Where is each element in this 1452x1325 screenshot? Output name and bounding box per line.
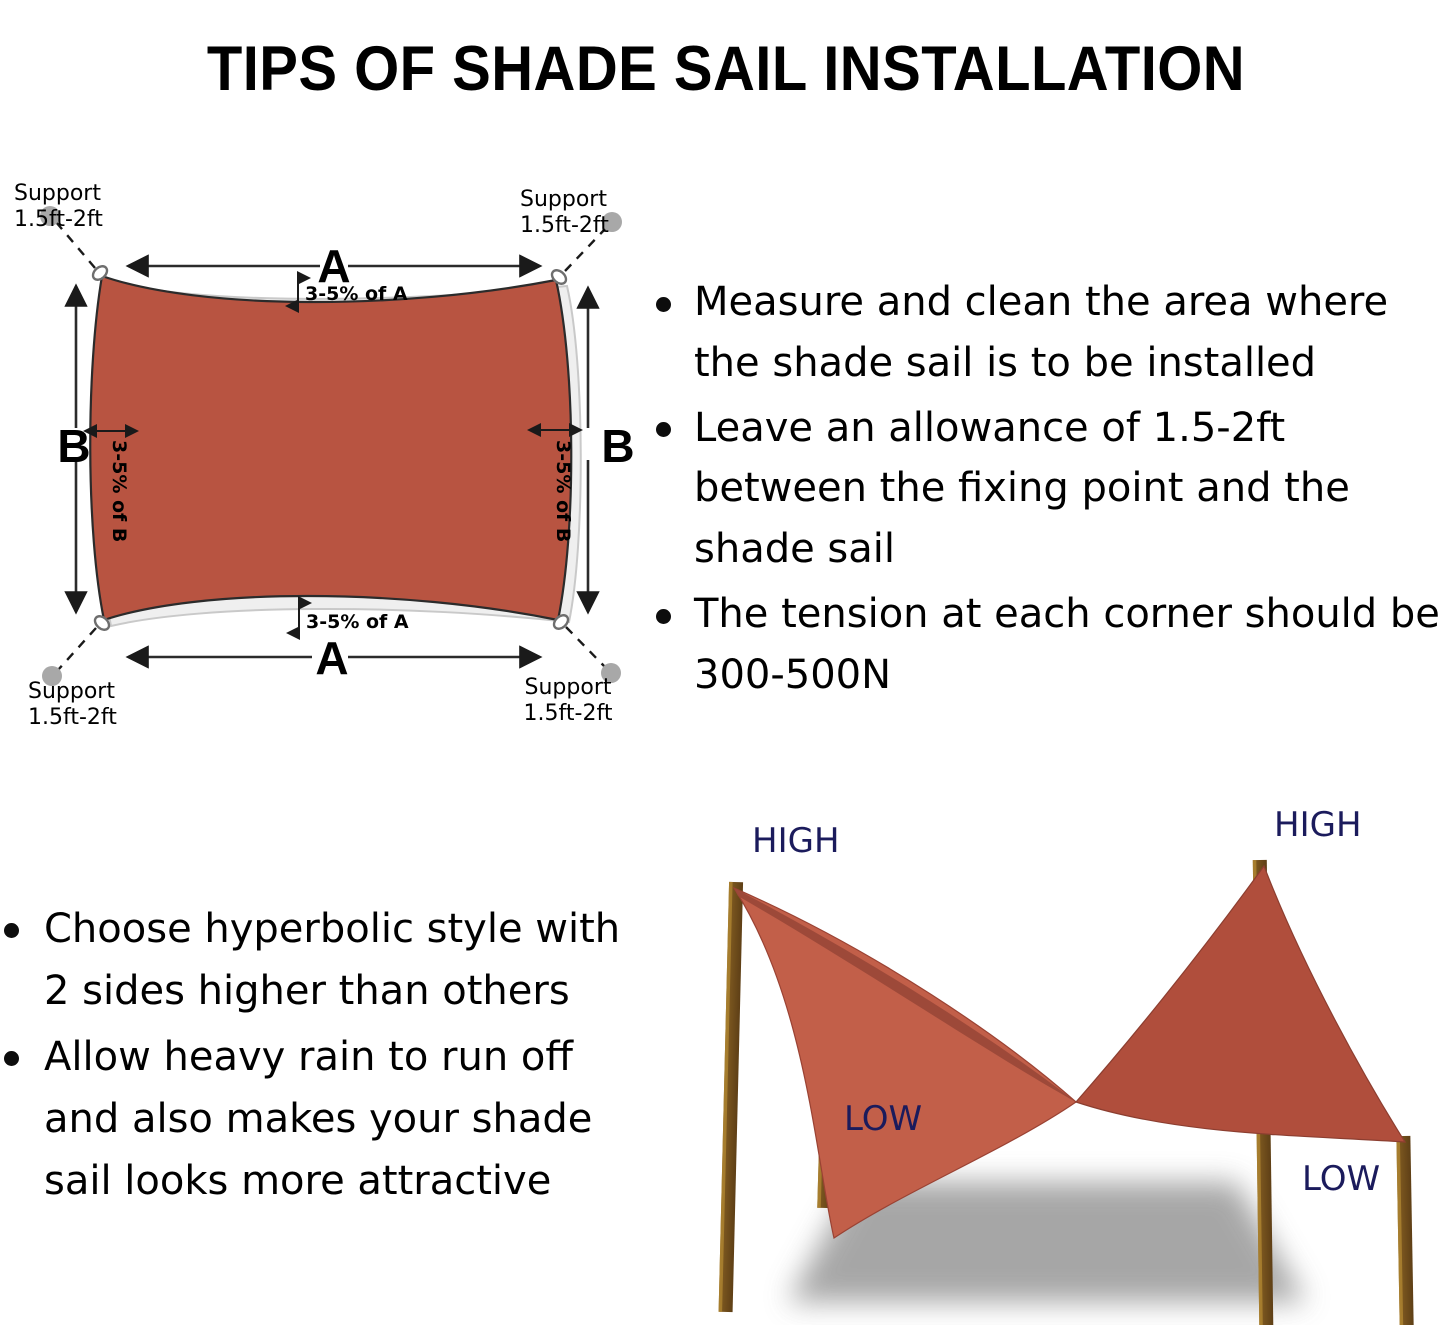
label-low-right: LOW (1302, 1159, 1380, 1199)
support-dist-top-right: 1.5ft-2ft (520, 213, 609, 238)
support-label-bottom-right: Support (525, 675, 612, 700)
label-b-left: B (57, 420, 90, 472)
support-label-bottom-left: Support (28, 679, 115, 704)
label-curve-a-top: 3-5% of A (305, 283, 408, 305)
tip-item: Allow heavy rain to run off and also mak… (0, 1026, 630, 1212)
hyperbolic-tips-list: Choose hyperbolic style with 2 sides hig… (0, 898, 630, 1216)
tip-item: Choose hyperbolic style with 2 sides hig… (0, 898, 630, 1022)
label-low-left: LOW (844, 1099, 922, 1139)
label-curve-b-left: 3-5% of B (108, 440, 130, 542)
tip-item: The tension at each corner should be 300… (648, 584, 1452, 706)
label-b-right: B (601, 420, 634, 472)
support-dist-top-left: 1.5ft-2ft (14, 207, 103, 232)
tip-item: Leave an allowance of 1.5-2ft between th… (648, 398, 1452, 580)
dash-bottom-right (566, 627, 605, 667)
support-dist-bottom-right: 1.5ft-2ft (524, 701, 613, 726)
dash-bottom-left (58, 628, 96, 670)
label-a-bottom: A (315, 632, 348, 684)
label-high-left: HIGH (752, 821, 840, 861)
tip-item: Measure and clean the area where the sha… (648, 272, 1452, 394)
page-title: TIPS OF SHADE SAIL INSTALLATION (58, 38, 1394, 101)
installation-tips-list: Measure and clean the area where the sha… (648, 272, 1452, 710)
label-curve-a-bottom: 3-5% of A (306, 611, 409, 633)
hyperbolic-sail-diagram: HIGH HIGH LOW LOW (676, 790, 1452, 1325)
rectangular-sail-diagram: A 3-5% of A A 3-5% of A B 3-5% of B (0, 160, 660, 730)
label-curve-b-right: 3-5% of B (552, 440, 574, 542)
support-dist-bottom-left: 1.5ft-2ft (28, 705, 117, 730)
support-label-top-right: Support (520, 187, 607, 212)
post-high-left (719, 882, 744, 1312)
label-high-right: HIGH (1274, 805, 1362, 845)
support-label-top-left: Support (14, 181, 101, 206)
sail-fabric (90, 276, 571, 620)
post-low-right (1396, 1136, 1413, 1325)
